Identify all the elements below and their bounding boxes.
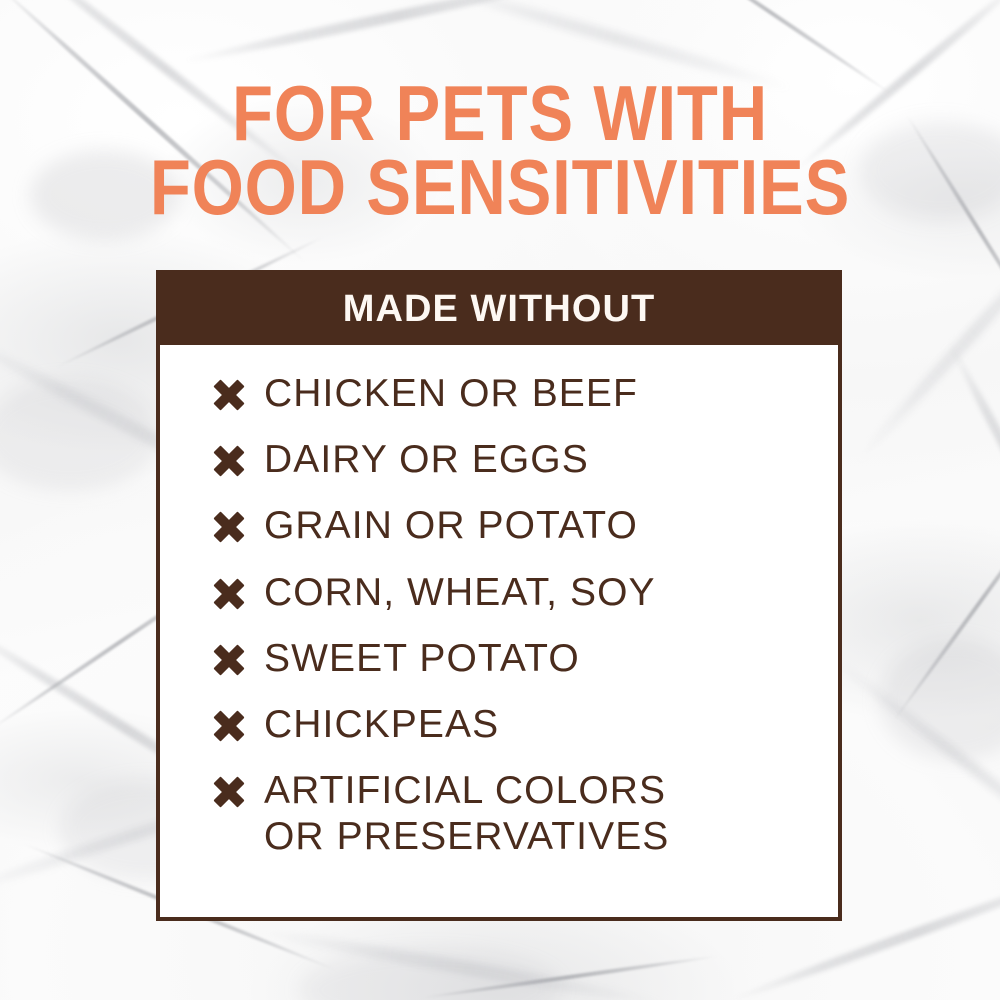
list-item-label: CHICKPEAS — [264, 702, 499, 747]
list-item-label: SWEET POTATO — [264, 636, 580, 681]
list-item: CHICKPEAS — [160, 702, 838, 747]
card-header-bar: MADE WITHOUT — [160, 274, 838, 345]
x-mark-icon — [212, 775, 246, 809]
x-mark-icon — [212, 709, 246, 743]
list-item-label: CORN, WHEAT, SOY — [264, 570, 656, 615]
card-body: CHICKEN OR BEEF DAIRY OR EGGS GRAIN OR P… — [160, 345, 838, 917]
headline-line-2: FOOD SENSITIVITIES — [70, 152, 930, 224]
list-item-label: GRAIN OR POTATO — [264, 503, 638, 548]
made-without-card: MADE WITHOUT CHICKEN OR BEEF DAIRY OR EG… — [156, 270, 842, 921]
list-item: CHICKEN OR BEEF — [160, 371, 838, 416]
poster-canvas: FOR PETS WITH FOOD SENSITIVITIES MADE WI… — [0, 0, 1000, 1000]
x-mark-icon — [212, 510, 246, 544]
poster-headline: FOR PETS WITH FOOD SENSITIVITIES — [0, 78, 1000, 224]
list-item-label: CHICKEN OR BEEF — [264, 371, 638, 416]
x-mark-icon — [212, 378, 246, 412]
x-mark-icon — [212, 577, 246, 611]
list-item: CORN, WHEAT, SOY — [160, 570, 838, 615]
excluded-ingredients-list: CHICKEN OR BEEF DAIRY OR EGGS GRAIN OR P… — [160, 371, 838, 859]
x-mark-icon — [212, 444, 246, 478]
list-item: ARTIFICIAL COLORS OR PRESERVATIVES — [160, 768, 838, 858]
headline-line-1: FOR PETS WITH — [70, 78, 930, 150]
list-item-label: DAIRY OR EGGS — [264, 437, 589, 482]
list-item: SWEET POTATO — [160, 636, 838, 681]
x-mark-icon — [212, 643, 246, 677]
card-header-title: MADE WITHOUT — [343, 288, 656, 331]
list-item: GRAIN OR POTATO — [160, 503, 838, 548]
list-item-label: ARTIFICIAL COLORS OR PRESERVATIVES — [264, 768, 669, 858]
list-item: DAIRY OR EGGS — [160, 437, 838, 482]
